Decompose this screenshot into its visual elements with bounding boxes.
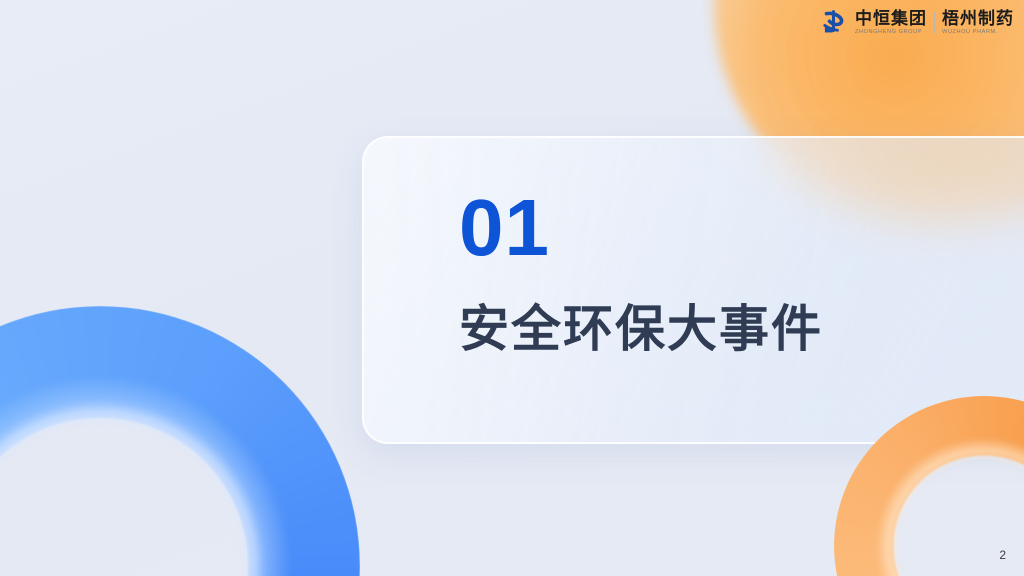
- logo-left-en: ZHONGHENG GROUP: [855, 29, 922, 36]
- logo-left-block: 中恒集团 ZHONGHENG GROUP: [855, 10, 927, 35]
- section-title: 安全环保大事件: [459, 302, 1024, 356]
- blue-ring-outer-edge: [0, 306, 360, 576]
- company-logo: 中恒集团 ZHONGHENG GROUP 梧州制药 WUZHOU PHARM.: [821, 9, 1014, 36]
- logo-wordmark: 中恒集团 ZHONGHENG GROUP 梧州制药 WUZHOU PHARM.: [855, 10, 1014, 35]
- zhongheng-logo-mark-icon: [821, 9, 848, 36]
- page-number: 2: [999, 548, 1006, 562]
- logo-right-cn: 梧州制药: [942, 10, 1014, 28]
- logo-left-cn: 中恒集团: [855, 10, 927, 28]
- logo-right-en: WUZHOU PHARM.: [942, 29, 998, 36]
- orange-ring-inner-highlight: [834, 396, 1024, 576]
- slide-canvas: 01 安全环保大事件 中恒集团 ZHONGHENG GROUP 梧州制药: [0, 0, 1024, 576]
- logo-divider: [934, 12, 935, 33]
- logo-right-block: 梧州制药 WUZHOU PHARM.: [942, 10, 1014, 35]
- orange-ring-bottom-right: [834, 396, 1024, 576]
- blue-ring-bottom-left: [0, 306, 360, 576]
- card-content: 01 安全环保大事件: [364, 138, 1024, 356]
- section-number: 01: [459, 190, 1024, 266]
